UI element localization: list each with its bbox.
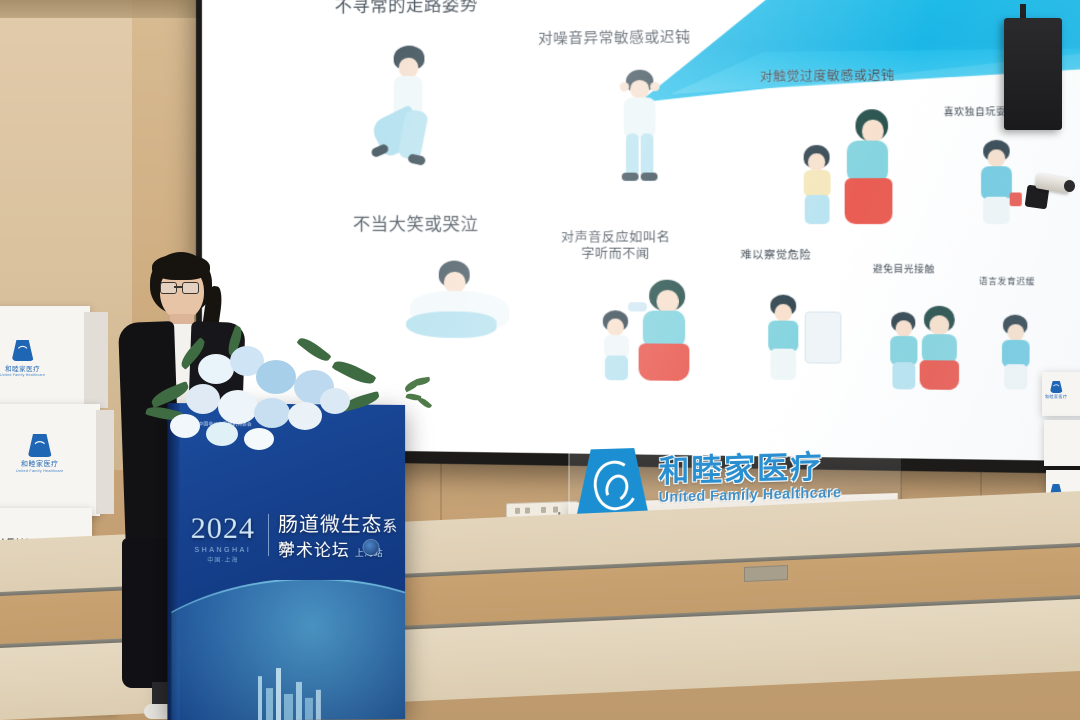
flower-arrangement bbox=[146, 336, 396, 456]
slide-label-no-response-to-name: 对声音反应如叫名 字听而不闻 bbox=[561, 230, 670, 262]
slide-label-plays-alone: 喜欢独自玩耍 bbox=[944, 106, 1007, 118]
podium-forum-subtitle: 学术论坛 bbox=[278, 541, 350, 560]
illustration-walking-child bbox=[371, 45, 443, 177]
uf-fan-glyph: ⌒ bbox=[1050, 381, 1063, 393]
presenter-hair-front bbox=[152, 254, 210, 280]
stage-sign-brand-cn: 和睦家医疗 bbox=[659, 451, 842, 487]
product-box-side bbox=[84, 312, 108, 408]
united-family-fan-logo-icon bbox=[576, 448, 648, 517]
illustration-child-unaware-danger bbox=[760, 295, 844, 385]
united-family-logo: ⌒ 和睦家医疗 United Family Healthcare bbox=[0, 340, 45, 377]
illustration-mother-touching-child bbox=[797, 109, 901, 232]
podium-year-block: 2024 SHANGHAI 中国·上海 bbox=[184, 512, 262, 564]
floor-access-plate bbox=[744, 565, 788, 582]
uf-fan-glyph: ⌒ bbox=[28, 434, 52, 457]
united-family-logo: ⌒ 和睦家医疗 United Family Healthcare bbox=[16, 434, 63, 473]
presenter-glasses-bridge bbox=[174, 286, 183, 288]
united-family-logo: ⌒ 和睦家医疗 bbox=[1045, 381, 1068, 400]
box-brand-cn: 和睦家医疗 bbox=[21, 459, 59, 469]
illustration-speech-delay-child bbox=[990, 315, 1050, 393]
podium-seal-icon bbox=[364, 540, 379, 555]
slide-label-unusual-gait: 不寻常的走路姿势 bbox=[335, 0, 478, 17]
podium-city-en: SHANGHAI bbox=[184, 547, 262, 554]
slide-label-speech-delay: 语言发育迟缓 bbox=[979, 277, 1035, 288]
product-box bbox=[1044, 420, 1080, 466]
slide-label-unaware-of-danger: 难以察觉危险 bbox=[740, 249, 811, 263]
slide-label-touch-sensitivity: 对触觉过度敏感或迟钝 bbox=[760, 68, 895, 85]
presenter-glasses-right-lens bbox=[182, 282, 199, 294]
uf-fan-icon: ⌒ bbox=[28, 434, 52, 457]
podium-forum-title-main: 肠道微生态 bbox=[278, 514, 382, 536]
product-box: ⌒ 和睦家医疗 United Family Healthcare bbox=[0, 306, 90, 414]
illustration-covering-ears-child bbox=[607, 65, 670, 187]
box-brand-en: United Family Healthcare bbox=[0, 373, 45, 377]
presenter-glasses-left-lens bbox=[160, 282, 177, 294]
podium-divider bbox=[268, 514, 269, 556]
box-brand-cn: 和睦家医疗 bbox=[5, 363, 40, 373]
decorative-plant bbox=[402, 378, 442, 434]
box-brand-en: United Family Healthcare bbox=[16, 469, 63, 473]
uf-fan-icon: ⌒ bbox=[12, 340, 34, 361]
podium-city-cn: 中国·上海 bbox=[184, 555, 262, 564]
box-brand-cn: 和睦家医疗 bbox=[1045, 394, 1068, 400]
product-box: ⌒ 和睦家医疗 United Family Healthcare bbox=[0, 404, 100, 516]
conference-room-photo: 不寻常的走路姿势 对噪音异常敏感或迟钝 对触觉过度敏感或迟钝 喜欢独自玩耍 不当… bbox=[0, 0, 1080, 720]
illustration-mother-kneeling bbox=[601, 279, 702, 383]
podium-year: 2024 bbox=[184, 512, 262, 546]
uf-fan-glyph: ⌒ bbox=[12, 340, 34, 361]
slide-label-inappropriate-laughing: 不当大笑或哭泣 bbox=[353, 214, 479, 236]
uf-fan-icon: ⌒ bbox=[1050, 381, 1063, 393]
illustration-child-playing-alone bbox=[966, 140, 1028, 241]
slide-label-avoids-eye-contact: 避免目光接触 bbox=[873, 264, 935, 276]
wall-speaker bbox=[1004, 18, 1062, 130]
slide-label-noise-sensitivity: 对噪音异常敏感或迟钝 bbox=[538, 28, 690, 48]
illustration-crying-child bbox=[404, 261, 517, 345]
camera-lens-icon bbox=[1064, 180, 1075, 192]
podium-skyline-graphic bbox=[171, 580, 405, 720]
product-box: ⌒ 和睦家医疗 bbox=[1042, 372, 1080, 416]
illustration-avoiding-eye-contact bbox=[885, 306, 968, 393]
